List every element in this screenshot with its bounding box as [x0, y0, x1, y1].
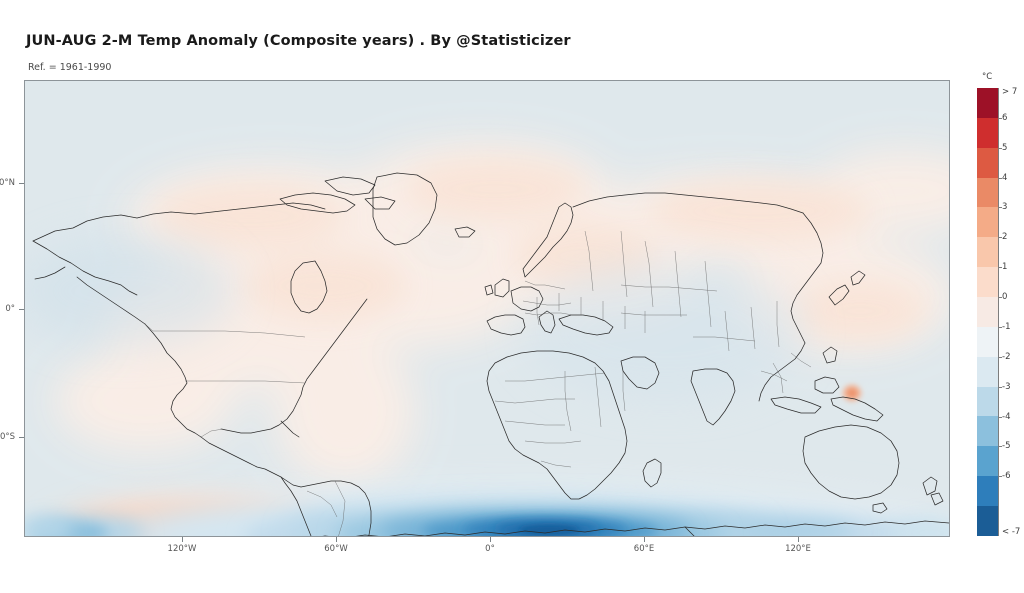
map-panel[interactable] — [24, 80, 950, 537]
colorbar-band-8 — [977, 327, 998, 357]
climate-anomaly-map-page: JUN-AUG 2-M Temp Anomaly (Composite year… — [0, 0, 1024, 593]
colorbar-band-14 — [977, 506, 998, 536]
colorbar-band-11 — [977, 416, 998, 446]
colorbar-band-10 — [977, 387, 998, 417]
ytick-label-50s: 50°S — [0, 432, 15, 442]
colorbar-label-5: 2 — [1002, 232, 1007, 242]
colorbar-label-1: 6 — [1002, 113, 1007, 123]
colorbar-label-0: > 7 — [1002, 87, 1017, 97]
ytick-label-0: 0° — [0, 304, 15, 314]
colorbar-label-3: 4 — [1002, 173, 1007, 183]
reference-period-label: Ref. = 1961-1990 — [28, 62, 111, 73]
ytick-mark-50n — [19, 183, 24, 184]
anomaly-map-svg — [25, 81, 949, 536]
colorbar-band-7 — [977, 297, 998, 327]
xtick-label-60w: 60°W — [306, 544, 366, 554]
xtick-mark-120e — [798, 537, 799, 542]
colorbar-label-6: 1 — [1002, 262, 1007, 272]
colorbar-band-9 — [977, 357, 998, 387]
colorbar-axis-line — [998, 88, 999, 536]
colorbar-band-12 — [977, 446, 998, 476]
xtick-mark-60w — [336, 537, 337, 542]
colorbar-tick-10 — [998, 387, 1002, 388]
xtick-mark-60e — [644, 537, 645, 542]
ytick-mark-50s — [19, 437, 24, 438]
colorbar-band-6 — [977, 267, 998, 297]
xtick-label-0: 0° — [460, 544, 520, 554]
colorbar-label-11: -4 — [1002, 412, 1010, 422]
colorbar-tick-8 — [998, 327, 1002, 328]
colorbar-label-2: 5 — [1002, 143, 1007, 153]
colorbar-tick-2 — [998, 148, 1002, 149]
colorbar-band-5 — [977, 237, 998, 267]
colorbar-tick-5 — [998, 237, 1002, 238]
colorbar-label-4: 3 — [1002, 202, 1007, 212]
colorbar-label-13: -6 — [1002, 471, 1010, 481]
colorbar-band-2 — [977, 148, 998, 178]
colorbar-label-12: -5 — [1002, 441, 1010, 451]
colorbar-band-13 — [977, 476, 998, 506]
xtick-mark-0 — [490, 537, 491, 542]
xtick-label-60e: 60°E — [614, 544, 674, 554]
ytick-label-50n: 50°N — [0, 178, 15, 188]
colorbar-tick-11 — [998, 417, 1002, 418]
colorbar-tick-6 — [998, 267, 1002, 268]
xtick-label-120w: 120°W — [152, 544, 212, 554]
colorbar-label-9: -2 — [1002, 352, 1010, 362]
colorbar-tick-12 — [998, 446, 1002, 447]
xtick-mark-120w — [182, 537, 183, 542]
colorbar-band-4 — [977, 207, 998, 237]
colorbar-tick-1 — [998, 118, 1002, 119]
colorbar-label-14: < -7 — [1002, 527, 1020, 537]
colorbar-label-10: -3 — [1002, 382, 1010, 392]
colorbar-tick-13 — [998, 476, 1002, 477]
colorbar-tick-4 — [998, 207, 1002, 208]
colorbar-band-1 — [977, 118, 998, 148]
page-title: JUN-AUG 2-M Temp Anomaly (Composite year… — [26, 33, 571, 49]
colorbar-tick-3 — [998, 178, 1002, 179]
ytick-mark-0 — [19, 309, 24, 310]
colorbar-unit-label: °C — [982, 72, 992, 82]
colorbar-label-8: -1 — [1002, 322, 1010, 332]
colorbar-tick-9 — [998, 357, 1002, 358]
colorbar-label-7: 0 — [1002, 292, 1007, 302]
colorbar-tick-7 — [998, 297, 1002, 298]
xtick-label-120e: 120°E — [768, 544, 828, 554]
colorbar[interactable] — [977, 88, 998, 536]
colorbar-band-3 — [977, 178, 998, 208]
colorbar-band-0 — [977, 88, 998, 118]
